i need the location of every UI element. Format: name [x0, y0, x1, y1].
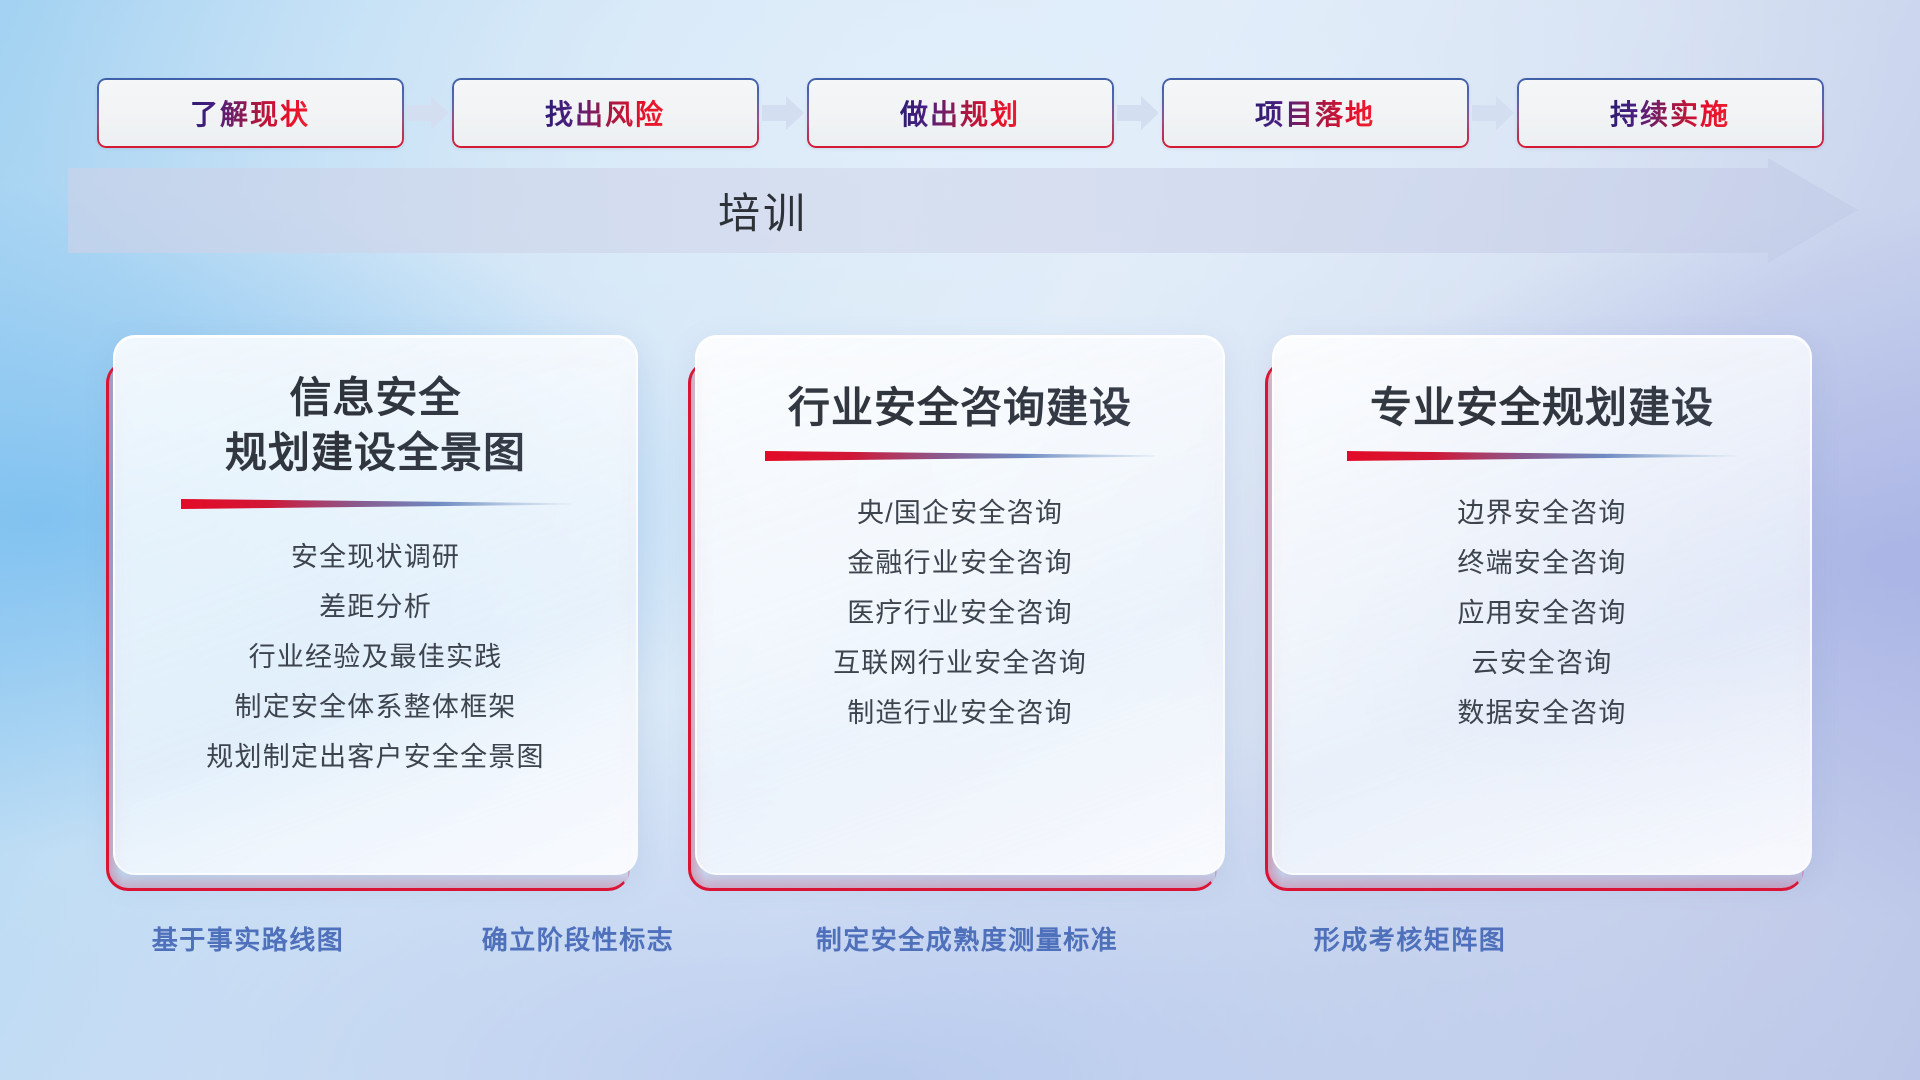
step-box-5[interactable]: 持续实施 — [1517, 78, 1824, 148]
card-3-title-line1: 专业安全规划建设 — [1274, 381, 1810, 436]
card-2-divider — [697, 448, 1223, 466]
card-3-title: 专业安全规划建设 — [1274, 381, 1810, 436]
list-item: 规划制定出客户安全全景图 — [206, 732, 544, 782]
card-2[interactable]: 行业安全咨询建设 — [695, 335, 1225, 875]
card-1[interactable]: 信息安全 规划建设全景图 — [113, 335, 638, 875]
step-box-4[interactable]: 项目落地 — [1162, 78, 1469, 148]
list-item: 行业经验及最佳实践 — [249, 632, 503, 682]
slide-canvas: 了解现状 找出风险 做出规划 项目落地 — [0, 0, 1920, 1080]
card-1-title-line2: 规划建设全景图 — [115, 426, 636, 481]
step-box-1[interactable]: 了解现状 — [97, 78, 404, 148]
card-1-divider — [115, 496, 636, 514]
list-item: 互联网行业安全咨询 — [833, 638, 1087, 688]
list-item: 边界安全咨询 — [1457, 488, 1626, 538]
card-1-title: 信息安全 规划建设全景图 — [115, 371, 636, 480]
card-2-list: 央/国企安全咨询 金融行业安全咨询 医疗行业安全咨询 互联网行业安全咨询 制造行… — [697, 488, 1223, 738]
list-item: 差距分析 — [319, 582, 432, 632]
process-step-row: 了解现状 找出风险 做出规划 项目落地 — [0, 78, 1920, 148]
step-box-2[interactable]: 找出风险 — [452, 78, 759, 148]
list-item: 安全现状调研 — [291, 532, 460, 582]
bottom-label-row: 基于事实路线图 确立阶段性标志 制定安全成熟度测量标准 形成考核矩阵图 — [0, 920, 1920, 970]
list-item: 数据安全咨询 — [1457, 688, 1626, 738]
step-arrow-3-icon — [1114, 78, 1162, 148]
banner-label: 培训 — [68, 158, 1458, 263]
bottom-label-2: 确立阶段性标志 — [482, 920, 675, 957]
list-item: 制造行业安全咨询 — [847, 688, 1073, 738]
card-2-title: 行业安全咨询建设 — [697, 381, 1223, 436]
list-item: 金融行业安全咨询 — [847, 538, 1073, 588]
card-2-body: 行业安全咨询建设 — [695, 335, 1225, 875]
step-arrow-2-icon — [759, 78, 807, 148]
card-3-list: 边界安全咨询 终端安全咨询 应用安全咨询 云安全咨询 数据安全咨询 — [1274, 488, 1810, 738]
card-row: 信息安全 规划建设全景图 — [0, 335, 1920, 890]
card-2-title-line1: 行业安全咨询建设 — [697, 381, 1223, 436]
step-arrow-4-icon — [1469, 78, 1517, 148]
step-label-1: 了解现状 — [190, 93, 310, 133]
card-3-body: 专业安全规划建设 — [1272, 335, 1812, 875]
list-item: 医疗行业安全咨询 — [847, 588, 1073, 638]
step-label-4: 项目落地 — [1255, 93, 1375, 133]
step-box-3[interactable]: 做出规划 — [807, 78, 1114, 148]
training-banner: 培训 — [68, 158, 1858, 263]
step-label-2: 找出风险 — [545, 93, 665, 133]
list-item: 制定安全体系整体框架 — [235, 682, 517, 732]
list-item: 央/国企安全咨询 — [857, 488, 1063, 538]
card-3[interactable]: 专业安全规划建设 — [1272, 335, 1812, 875]
step-arrow-1-icon — [404, 78, 452, 148]
list-item: 云安全咨询 — [1472, 638, 1613, 688]
list-item: 终端安全咨询 — [1457, 538, 1626, 588]
card-1-body: 信息安全 规划建设全景图 — [113, 335, 638, 875]
card-1-title-line1: 信息安全 — [115, 371, 636, 426]
card-1-list: 安全现状调研 差距分析 行业经验及最佳实践 制定安全体系整体框架 规划制定出客户… — [115, 532, 636, 782]
card-3-divider — [1274, 448, 1810, 466]
list-item: 应用安全咨询 — [1457, 588, 1626, 638]
bottom-label-4: 形成考核矩阵图 — [1314, 920, 1507, 957]
step-label-3: 做出规划 — [900, 93, 1020, 133]
step-label-5: 持续实施 — [1610, 93, 1730, 133]
bottom-label-1: 基于事实路线图 — [152, 920, 345, 957]
bottom-label-3: 制定安全成熟度测量标准 — [816, 920, 1119, 957]
